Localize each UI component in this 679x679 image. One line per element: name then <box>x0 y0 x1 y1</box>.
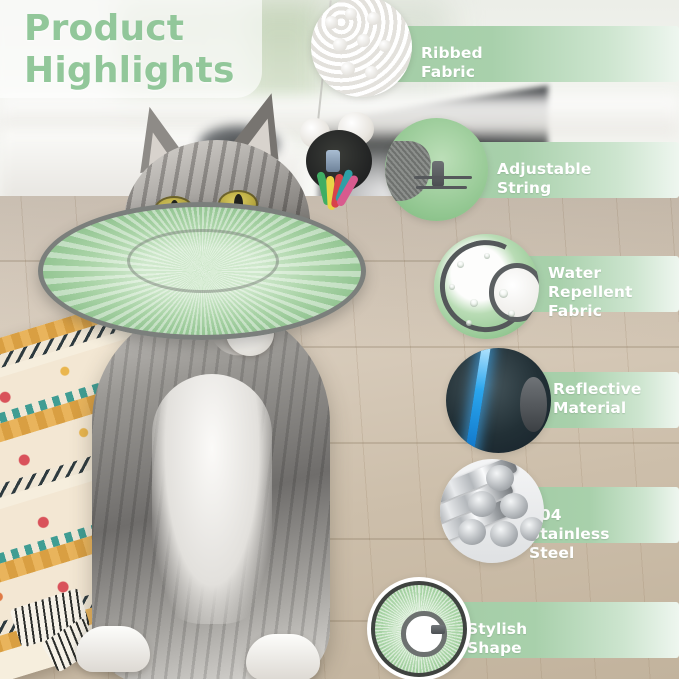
feature-label-4: Reflective Material <box>553 380 642 418</box>
feature-label-6: Stylish Shape <box>467 620 527 658</box>
feature-label-3-line-1: Water Repellent <box>548 264 633 302</box>
feature-label-3-line-2: Fabric <box>548 302 633 321</box>
drawstring-cordlock-icon <box>385 118 488 221</box>
feature-label-4-line-1: Reflective <box>553 380 642 399</box>
toy-clip <box>326 150 340 172</box>
reflective-stripe-icon <box>446 348 551 453</box>
cat-paw-right <box>246 634 320 679</box>
feature-label-3: Water Repellent Fabric <box>548 264 633 321</box>
title-line-1: Product <box>24 8 354 50</box>
steel-rods-icon <box>440 459 544 563</box>
ribbed-fabric-swatch-icon <box>311 0 412 97</box>
cat-chest <box>152 374 272 624</box>
page-title: Product Highlights <box>24 8 354 92</box>
product-lifestyle-photo <box>0 0 679 679</box>
cat-wearing-cone-collar <box>40 118 400 679</box>
collar-top-view-icon <box>367 577 471 679</box>
product-highlights-infographic: Product Highlights Ribbed Fabric Adjusta… <box>0 0 679 679</box>
feature-label-4-line-2: Material <box>553 399 642 418</box>
water-droplets-cone-icon <box>434 234 539 339</box>
title-line-2: Highlights <box>24 50 354 92</box>
feature-label-1: Ribbed Fabric <box>421 44 483 82</box>
green-cone-collar <box>38 202 366 340</box>
feature-label-2: Adjustable String <box>497 160 591 198</box>
cat-paw-left <box>76 626 150 672</box>
